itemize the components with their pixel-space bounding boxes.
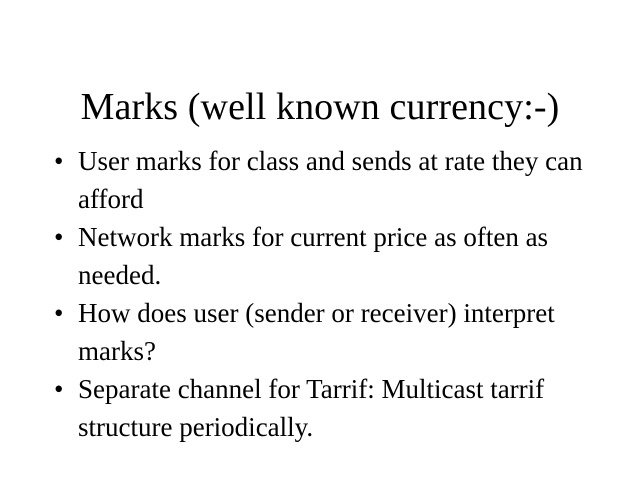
list-item-text: Network marks for current price as often… xyxy=(78,218,604,294)
list-item-text: User marks for class and sends at rate t… xyxy=(78,142,604,218)
list-item[interactable]: • Separate channel for Tarrif: Multicast… xyxy=(48,370,604,446)
list-item[interactable]: • User marks for class and sends at rate… xyxy=(48,142,604,218)
list-item[interactable]: • How does user (sender or receiver) int… xyxy=(48,294,604,370)
bullet-point-icon: • xyxy=(54,294,74,332)
bullet-point-icon: • xyxy=(54,218,74,256)
page-title: Marks (well known currency:-) xyxy=(0,85,640,129)
list-item-text: How does user (sender or receiver) inter… xyxy=(78,294,604,370)
bullet-point-icon: • xyxy=(54,370,74,408)
presentation-slide: Marks (well known currency:-) • User mar… xyxy=(0,0,640,480)
list-item-text: Separate channel for Tarrif: Multicast t… xyxy=(78,370,604,446)
bullet-point-icon: • xyxy=(54,142,74,180)
list-item[interactable]: • Network marks for current price as oft… xyxy=(48,218,604,294)
bullet-list: • User marks for class and sends at rate… xyxy=(48,142,604,446)
